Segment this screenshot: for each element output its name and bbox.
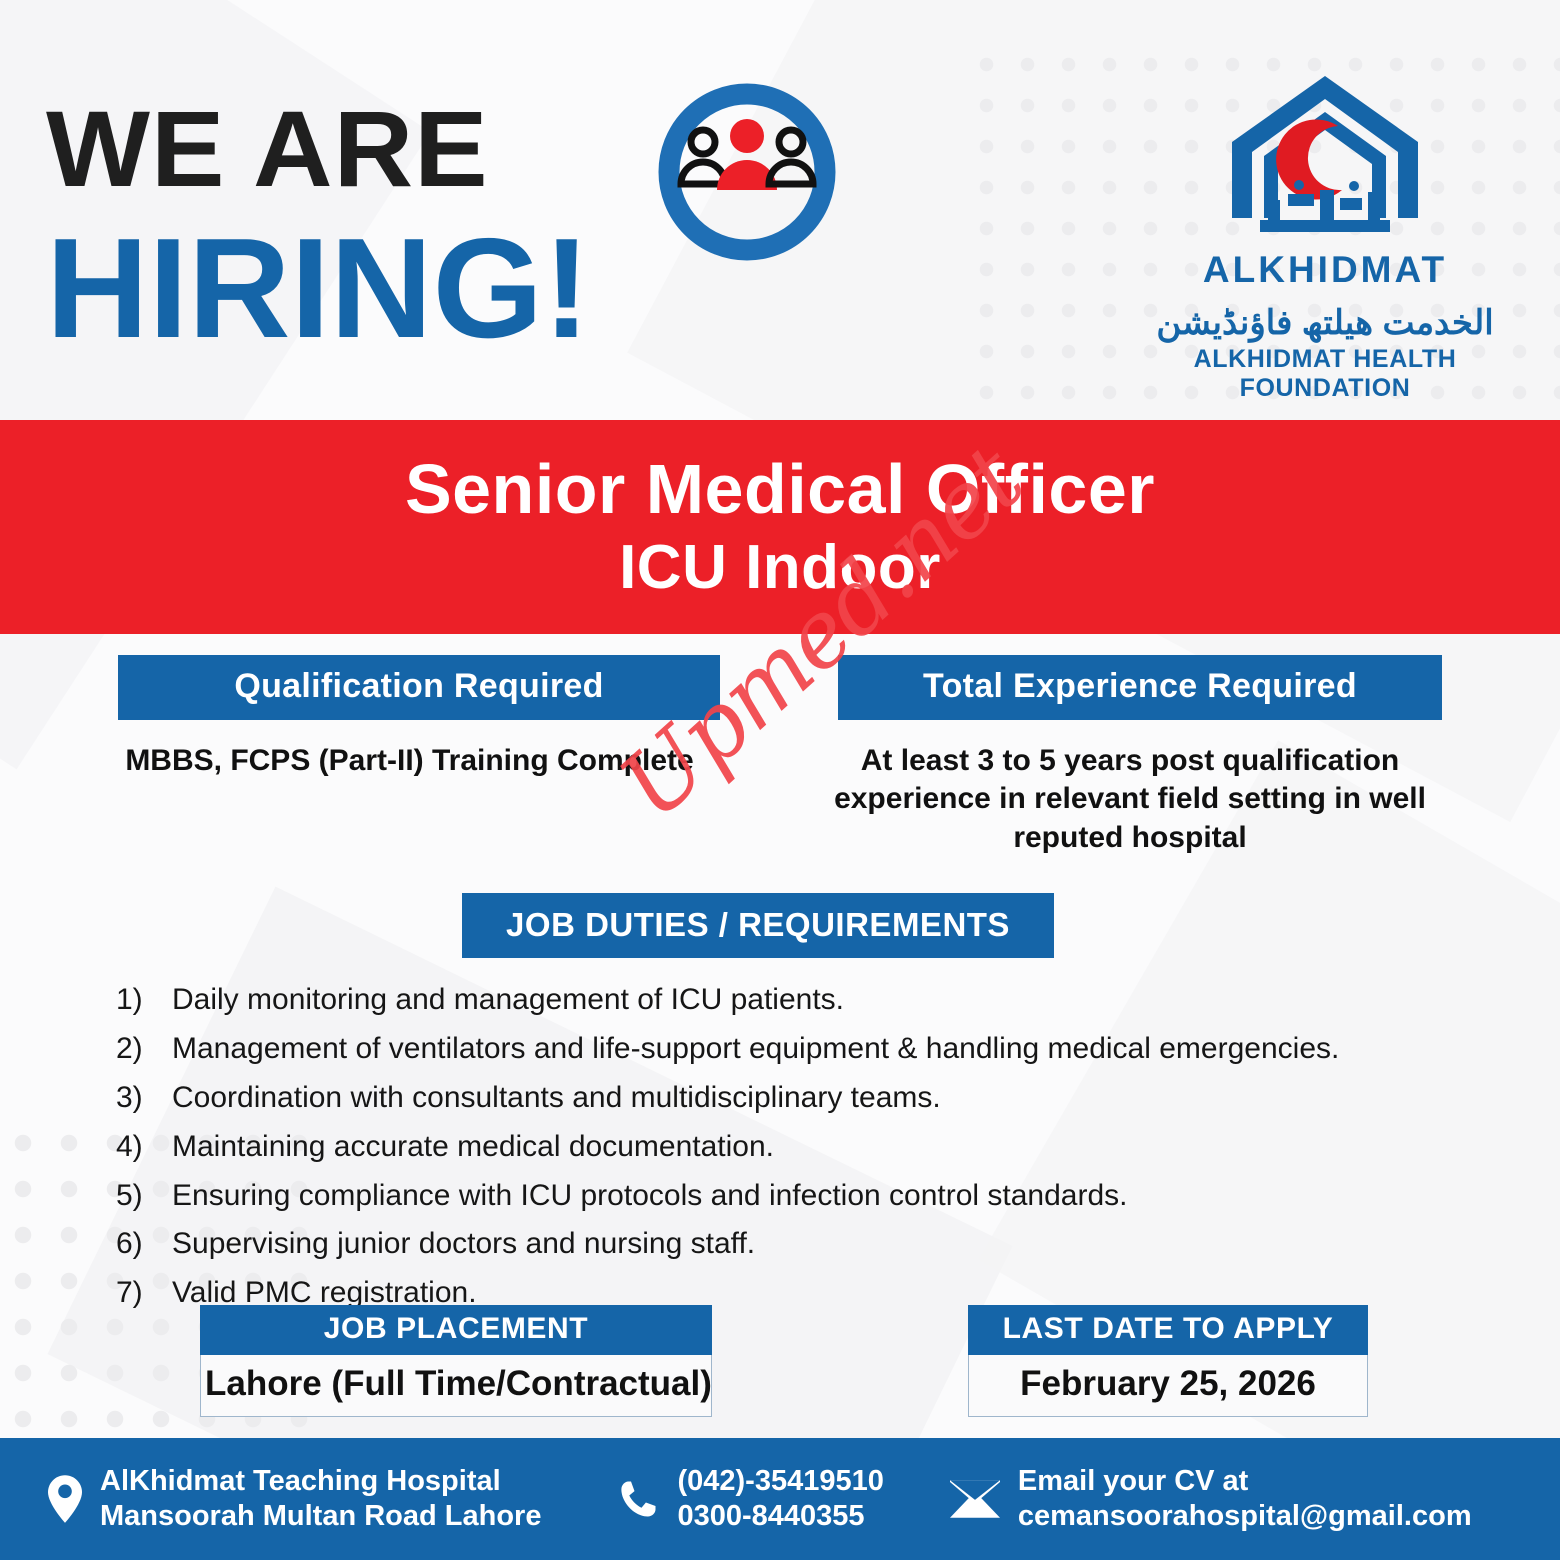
envelope-icon — [950, 1480, 1000, 1518]
qualification-heading: Qualification Required — [118, 655, 720, 720]
alkhidmat-logo-block: ALKHIDMAT الخدمت هیلتھ فاؤنڈیشن ALKHIDMA… — [1130, 68, 1520, 403]
footer-email[interactable]: Email your CV at cemansoorahospital@gmai… — [950, 1464, 1472, 1535]
footer-phone-lines: (042)-35419510 0300-8440355 — [677, 1464, 883, 1535]
qualification-value: MBBS, FCPS (Part-II) Training Complete — [92, 742, 727, 780]
last-date-heading: LAST DATE TO APPLY — [968, 1305, 1368, 1355]
alkhidmat-house-crescent-logo — [1220, 68, 1430, 253]
job-placement-heading: JOB PLACEMENT — [200, 1305, 712, 1355]
job-title-primary: Senior Medical Officer — [405, 452, 1155, 528]
footer-phone-line1: (042)-35419510 — [677, 1464, 883, 1499]
list-item-number: 6) — [116, 1224, 172, 1264]
list-item-number: 3) — [116, 1078, 172, 1118]
list-item: 3) Coordination with consultants and mul… — [116, 1078, 1496, 1118]
footer-phone[interactable]: (042)-35419510 0300-8440355 — [617, 1464, 883, 1535]
experience-value: At least 3 to 5 years post qualification… — [816, 742, 1444, 857]
list-item-text: Supervising junior doctors and nursing s… — [172, 1224, 755, 1264]
job-posting-poster: WE ARE HIRING! — [0, 0, 1560, 1560]
list-item-text: Coordination with consultants and multid… — [172, 1078, 941, 1118]
footer-address-line2: Mansoorah Multan Road Lahore — [100, 1499, 541, 1534]
poster-header: WE ARE HIRING! — [0, 0, 1560, 420]
job-title-banner: Senior Medical Officer ICU Indoor — [0, 420, 1560, 634]
list-item-text: Daily monitoring and management of ICU p… — [172, 980, 844, 1020]
list-item: 1) Daily monitoring and management of IC… — [116, 980, 1496, 1020]
people-group-in-circle-icon — [655, 80, 840, 265]
last-date-box: LAST DATE TO APPLY February 25, 2026 — [968, 1305, 1368, 1417]
footer-email-line1: Email your CV at — [1018, 1464, 1472, 1499]
footer-address: AlKhidmat Teaching Hospital Mansoorah Mu… — [48, 1464, 541, 1535]
list-item-number: 4) — [116, 1127, 172, 1167]
list-item-text: Management of ventilators and life-suppo… — [172, 1029, 1339, 1069]
list-item-text: Ensuring compliance with ICU protocols a… — [172, 1176, 1128, 1216]
list-item-number: 7) — [116, 1273, 172, 1313]
list-item: 2) Management of ventilators and life-su… — [116, 1029, 1496, 1069]
footer-phone-line2: 0300-8440355 — [677, 1499, 883, 1534]
list-item-number: 5) — [116, 1176, 172, 1216]
experience-heading: Total Experience Required — [838, 655, 1442, 720]
list-item: 4) Maintaining accurate medical document… — [116, 1127, 1496, 1167]
list-item-number: 1) — [116, 980, 172, 1020]
we-are-text: WE ARE — [46, 95, 489, 203]
hiring-text: HIRING! — [46, 218, 590, 360]
contact-footer: AlKhidmat Teaching Hospital Mansoorah Mu… — [0, 1438, 1560, 1560]
logo-arabic-name: الخدمت هیلتھ فاؤنڈیشن — [1130, 303, 1520, 343]
last-date-value: February 25, 2026 — [968, 1355, 1368, 1417]
job-placement-value: Lahore (Full Time/Contractual) — [200, 1355, 712, 1417]
job-title-secondary: ICU Indoor — [619, 534, 941, 602]
requirements-row: Qualification Required MBBS, FCPS (Part-… — [0, 655, 1560, 857]
footer-email-lines: Email your CV at cemansoorahospital@gmai… — [1018, 1464, 1472, 1535]
footer-address-line1: AlKhidmat Teaching Hospital — [100, 1464, 541, 1499]
job-duties-heading: JOB DUTIES / REQUIREMENTS — [462, 893, 1054, 958]
location-pin-icon — [48, 1475, 82, 1523]
footer-address-lines: AlKhidmat Teaching Hospital Mansoorah Mu… — [100, 1464, 541, 1535]
footer-email-line2[interactable]: cemansoorahospital@gmail.com — [1018, 1499, 1472, 1534]
qualification-block: Qualification Required MBBS, FCPS (Part-… — [0, 655, 800, 857]
list-item-text: Maintaining accurate medical documentati… — [172, 1127, 774, 1167]
logo-wordmark: ALKHIDMAT — [1130, 249, 1520, 291]
list-item: 5) Ensuring compliance with ICU protocol… — [116, 1176, 1496, 1216]
job-placement-box: JOB PLACEMENT Lahore (Full Time/Contract… — [200, 1305, 712, 1417]
list-item-number: 2) — [116, 1029, 172, 1069]
phone-icon — [617, 1478, 659, 1520]
logo-subtitle: ALKHIDMAT HEALTH FOUNDATION — [1130, 345, 1520, 403]
list-item: 6) Supervising junior doctors and nursin… — [116, 1224, 1496, 1264]
experience-block: Total Experience Required At least 3 to … — [800, 655, 1560, 857]
job-duties-list: 1) Daily monitoring and management of IC… — [116, 980, 1496, 1322]
